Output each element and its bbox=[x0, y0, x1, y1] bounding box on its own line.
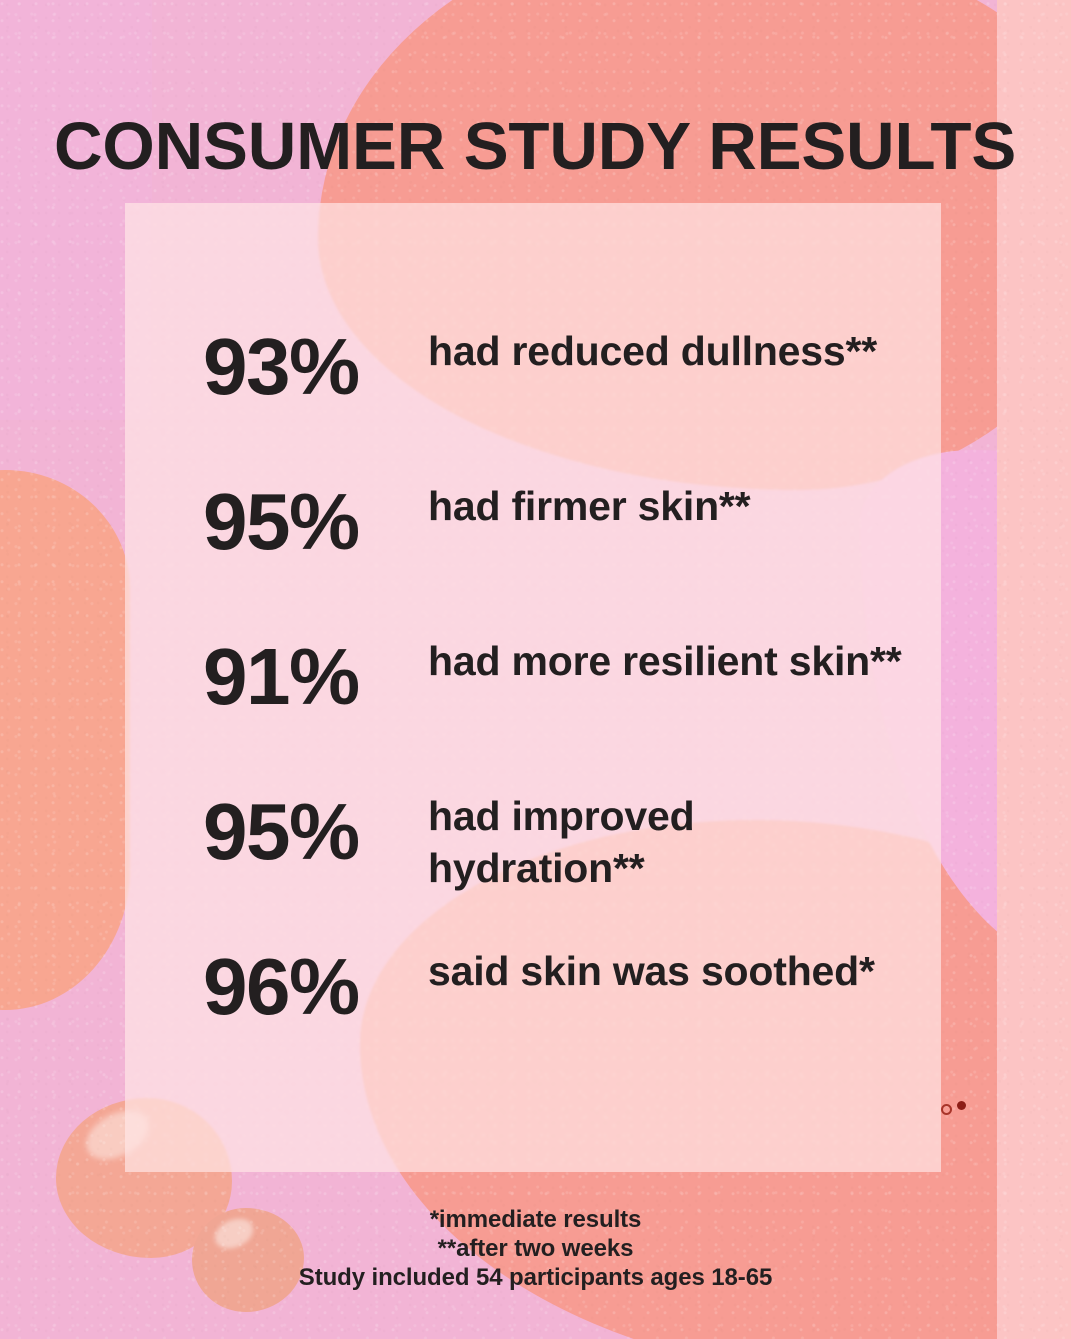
stat-value: 91% bbox=[203, 625, 428, 716]
stat-value: 95% bbox=[203, 470, 428, 561]
stat-label: had more resilient skin** bbox=[428, 625, 902, 687]
stat-value: 96% bbox=[203, 935, 428, 1026]
background-speck-ring bbox=[941, 1104, 952, 1115]
stat-label: had firmer skin** bbox=[428, 470, 750, 532]
footnote-line-study-detail: Study included 54 participants ages 18-6… bbox=[0, 1263, 1071, 1292]
stat-label: had improved hydration** bbox=[428, 780, 903, 894]
list-item: 96% said skin was soothed* bbox=[203, 935, 903, 1090]
background-right-pale-strip bbox=[997, 0, 1071, 1339]
page-title: CONSUMER STUDY RESULTS bbox=[54, 113, 1039, 180]
poster-canvas: CONSUMER STUDY RESULTS 93% had reduced d… bbox=[0, 0, 1071, 1339]
stat-value: 95% bbox=[203, 780, 428, 871]
footnote-line-immediate: *immediate results bbox=[0, 1205, 1071, 1234]
list-item: 93% had reduced dullness** bbox=[203, 315, 903, 470]
background-speck bbox=[957, 1101, 966, 1110]
footnote-line-two-weeks: **after two weeks bbox=[0, 1234, 1071, 1263]
stat-label: had reduced dullness** bbox=[428, 315, 877, 377]
stat-value: 93% bbox=[203, 315, 428, 406]
footnotes: *immediate results **after two weeks Stu… bbox=[0, 1205, 1071, 1292]
list-item: 95% had firmer skin** bbox=[203, 470, 903, 625]
list-item: 91% had more resilient skin** bbox=[203, 625, 903, 780]
list-item: 95% had improved hydration** bbox=[203, 780, 903, 935]
background-peach-oval-left bbox=[0, 470, 130, 1010]
results-card: 93% had reduced dullness** 95% had firme… bbox=[125, 203, 941, 1172]
stat-label: said skin was soothed* bbox=[428, 935, 875, 997]
stats-list: 93% had reduced dullness** 95% had firme… bbox=[203, 315, 903, 1090]
